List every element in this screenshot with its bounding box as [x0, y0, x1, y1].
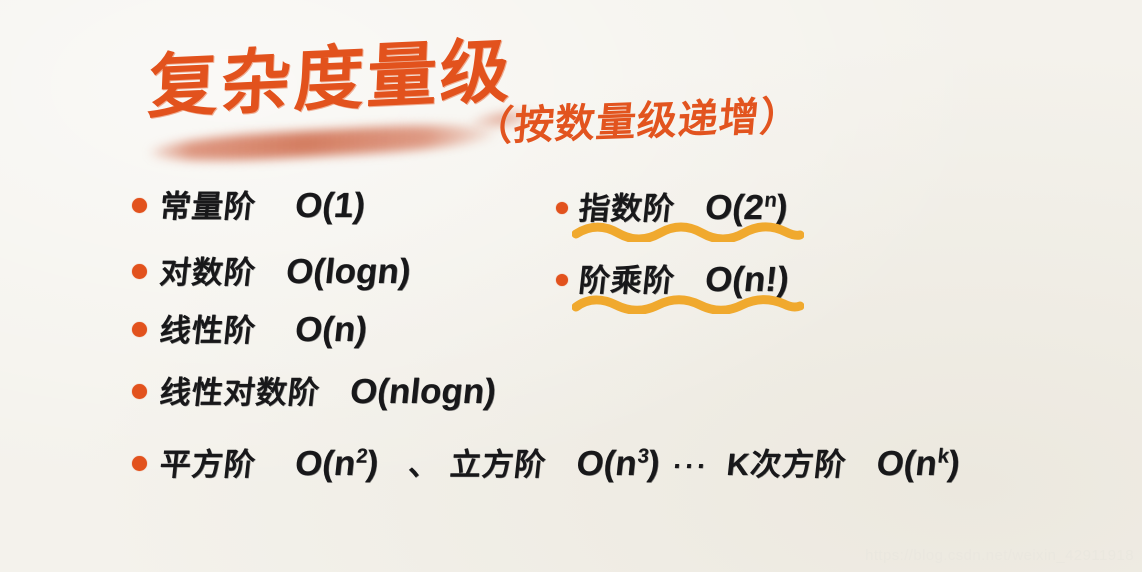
list-item-exponential: 指数阶 O(2n) — [556, 190, 788, 225]
complexity-notation: O(n) — [293, 310, 369, 349]
page-subtitle: （按数量级递增） — [471, 96, 802, 148]
complexity-name: 常量阶 — [158, 189, 258, 224]
complexity-name: 阶乘阶 — [577, 263, 677, 298]
list-item-label: 平方阶 O(n2) 、 立方阶 O(n3) ··· K次方阶 O(nk) — [158, 446, 962, 481]
list-item-label: 指数阶 O(2n) — [577, 190, 789, 225]
complexity-name-kth: K次方阶 — [725, 447, 848, 482]
handwritten-note-canvas: 复杂度量级 （按数量级递增） 常量阶 O(1) 对数阶 O(logn) 线性阶 … — [0, 0, 1142, 572]
bullet-icon — [132, 322, 147, 337]
list-item-label: 对数阶 O(logn) — [158, 254, 412, 289]
complexity-name: 线性阶 — [158, 313, 258, 348]
notation-close: ) — [646, 444, 662, 483]
complexity-notation-kth: O(nk) — [875, 444, 962, 483]
list-item: 常量阶 O(1) — [132, 188, 365, 223]
notation-close: ) — [946, 444, 962, 483]
bullet-icon — [132, 384, 147, 399]
notation-base: O(n — [875, 444, 939, 483]
list-item-polynomial: 平方阶 O(n2) 、 立方阶 O(n3) ··· K次方阶 O(nk) — [132, 446, 960, 481]
list-item: 线性阶 O(n) — [132, 312, 367, 347]
title-brush-underline — [150, 120, 496, 165]
complexity-name: 指数阶 — [577, 191, 677, 226]
separator-comma: 、 — [407, 447, 443, 482]
complexity-name-cube: 立方阶 — [448, 447, 548, 482]
complexity-name: 对数阶 — [158, 255, 258, 290]
list-item: 线性对数阶 O(nlogn) — [132, 374, 496, 409]
bullet-icon — [132, 456, 147, 471]
notation-base: O(n — [293, 444, 357, 483]
ellipsis: ··· — [668, 453, 719, 480]
title-block: 复杂度量级 （按数量级递增） — [148, 44, 848, 156]
list-item: 对数阶 O(logn) — [132, 254, 411, 289]
complexity-notation: O(logn) — [284, 252, 413, 291]
watermark-url: https://blog.csdn.net/weixin_42911918 — [865, 547, 1134, 564]
bullet-icon — [556, 274, 568, 286]
complexity-name: 线性对数阶 — [158, 375, 322, 410]
highlight-wavy-underline-factorial — [572, 294, 804, 314]
highlight-wavy-underline-exponential — [572, 222, 804, 242]
list-item-label: 线性阶 O(n) — [158, 312, 369, 347]
list-item-label: 常量阶 O(1) — [158, 188, 367, 223]
bullet-icon — [132, 198, 147, 213]
complexity-notation-square: O(n2) — [293, 444, 380, 483]
list-item-factorial: 阶乘阶 O(n!) — [556, 262, 789, 297]
complexity-notation: O(nlogn) — [348, 372, 498, 411]
complexity-notation: O(1) — [293, 186, 367, 225]
page-title: 复杂度量级 — [147, 36, 515, 123]
notation-base: O(n — [575, 444, 639, 483]
bullet-icon — [556, 202, 568, 214]
bullet-icon — [132, 264, 147, 279]
list-item-label: 线性对数阶 O(nlogn) — [158, 374, 498, 409]
complexity-name-square: 平方阶 — [158, 447, 258, 482]
complexity-notation-cube: O(n3) — [575, 444, 662, 483]
list-item-label: 阶乘阶 O(n!) — [577, 262, 791, 297]
